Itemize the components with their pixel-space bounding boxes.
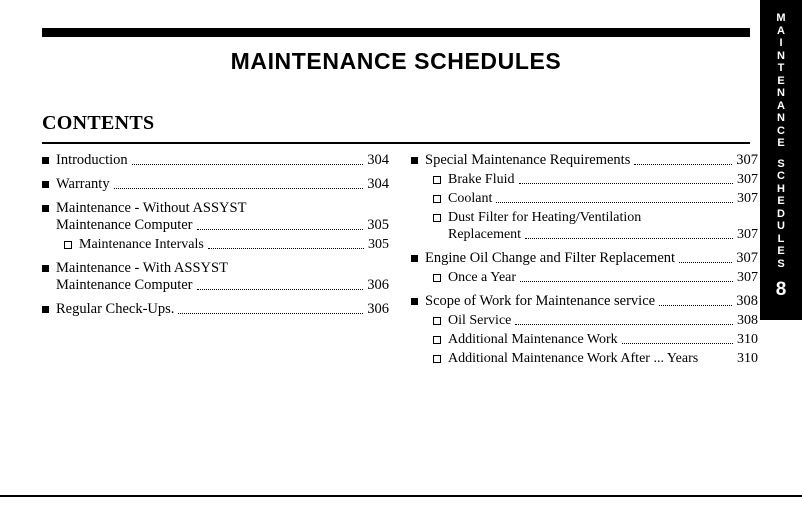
filled-square-bullet-icon [42,265,49,272]
contents-entry-page: 306 [367,301,389,318]
dot-leader [659,304,732,306]
side-tab-number: 8 [776,280,787,300]
contents-entry-label: Once a Year [448,269,516,286]
contents-entry-page: 305 [368,236,389,253]
side-tab-letter: S [777,158,784,171]
side-tab-letter: E [777,195,784,208]
dot-leader [702,362,733,363]
side-tab-letter: M [776,12,785,25]
contents-entry[interactable]: Brake Fluid307 [411,171,758,188]
contents-entry-page: 306 [367,277,389,294]
contents-entry-page: 307 [737,171,758,188]
contents-entry-body: Special Maintenance Requirements307 [425,152,758,169]
contents-entry-body: Brake Fluid307 [448,171,758,188]
dot-leader [520,280,733,282]
contents-entry[interactable]: Dust Filter for Heating/VentilationRepla… [411,209,758,243]
contents-right-column: Special Maintenance Requirements307Brake… [411,152,758,367]
contents-entry-label: Warranty [56,176,110,193]
contents-entry[interactable]: Special Maintenance Requirements307 [411,152,758,169]
side-tab-letter: E [777,245,784,258]
header-rule [42,28,750,37]
contents-entry-body: Additional Maintenance Work310 [448,331,758,348]
filled-square-bullet-icon [42,306,49,313]
contents-entry[interactable]: Introduction304 [42,152,389,169]
contents-left-column: Introduction304Warranty304Maintenance - … [42,152,389,367]
filled-square-bullet-icon [42,205,49,212]
contents-entry-label: Regular Check-Ups. [56,301,174,318]
side-tab-letter: L [778,233,785,246]
contents-entry-body: Scope of Work for Maintenance service308 [425,293,758,310]
contents-entry-label: Coolant [448,190,492,207]
contents-entry-label-line1: Maintenance - With ASSYST [56,260,389,277]
side-tab-letter: H [777,183,785,196]
contents-entry-label: Introduction [56,152,128,169]
contents-entry-page: 304 [367,152,389,169]
contents-entry-page: 310 [737,350,758,367]
contents-entry[interactable]: Maintenance - Without ASSYSTMaintenance … [42,200,389,234]
side-tab-letter: A [777,25,785,38]
hollow-square-bullet-icon [433,176,441,184]
hollow-square-bullet-icon [64,241,72,249]
side-tab-letter: N [777,112,785,125]
hollow-square-bullet-icon [433,336,441,344]
contents-entry[interactable]: Regular Check-Ups.306 [42,301,389,318]
contents-entry-label: Maintenance Computer [56,277,193,294]
side-tab-letter: C [777,125,785,138]
dot-leader [525,237,733,239]
side-tab-letter: I [779,37,782,50]
hollow-square-bullet-icon [433,195,441,203]
contents-heading: CONTENTS [42,112,154,135]
dot-leader [679,261,732,263]
contents-entry[interactable]: Additional Maintenance Work After ... Ye… [411,350,758,367]
contents-entry-page: 305 [367,217,389,234]
contents-entry-label: Oil Service [448,312,511,329]
dot-leader [178,312,363,314]
section-side-tab: MAINTENANCE SCHEDULES 8 [760,0,802,320]
contents-entry-page: 310 [737,331,758,348]
contents-entry-label: Replacement [448,226,521,243]
side-tab-letter: N [777,50,785,63]
side-tab-letter: C [777,170,785,183]
contents-entry-body: Coolant307 [448,190,758,207]
contents-entry-body: Regular Check-Ups.306 [56,301,389,318]
filled-square-bullet-icon [411,157,418,164]
contents-entry-page: 307 [737,190,758,207]
filled-square-bullet-icon [411,255,418,262]
contents-entry-label: Maintenance Intervals [79,236,204,253]
contents-entry-label: Maintenance Computer [56,217,193,234]
side-tab-word-schedules: SCHEDULES [777,158,785,271]
dot-leader [515,323,733,325]
hollow-square-bullet-icon [433,274,441,282]
side-tab-letter: U [777,220,785,233]
contents-entry-label: Brake Fluid [448,171,515,188]
hollow-square-bullet-icon [433,355,441,363]
filled-square-bullet-icon [42,181,49,188]
dot-leader [208,247,364,249]
contents-entry-page: 304 [367,176,389,193]
contents-entry-line2: Replacement307 [448,226,758,243]
contents-entry[interactable]: Additional Maintenance Work310 [411,331,758,348]
dot-leader [634,163,732,165]
dot-leader [132,163,364,165]
contents-entry-body: Oil Service308 [448,312,758,329]
side-tab-letter: D [777,208,785,221]
contents-rule [42,142,750,144]
contents-entry-body: Maintenance - Without ASSYSTMaintenance … [56,200,389,234]
filled-square-bullet-icon [411,298,418,305]
contents-entry-line2: Maintenance Computer305 [56,217,389,234]
contents-entry[interactable]: Scope of Work for Maintenance service308 [411,293,758,310]
footer-rule [0,495,802,497]
contents-entry-body: Warranty304 [56,176,389,193]
dot-leader [197,288,364,290]
contents-entry-body: Once a Year307 [448,269,758,286]
dot-leader [496,201,733,203]
contents-entry[interactable]: Coolant307 [411,190,758,207]
contents-entry[interactable]: Engine Oil Change and Filter Replacement… [411,250,758,267]
dot-leader [622,342,733,344]
dot-leader [114,187,364,189]
manual-page: MAINTENANCE SCHEDULES CONTENTS Introduct… [0,0,802,509]
contents-entry-label: Engine Oil Change and Filter Replacement [425,250,675,267]
contents-entry-body: Dust Filter for Heating/VentilationRepla… [448,209,758,243]
contents-columns: Introduction304Warranty304Maintenance - … [42,152,757,367]
contents-entry-body: Maintenance - With ASSYSTMaintenance Com… [56,260,389,294]
contents-entry-label-line1: Maintenance - Without ASSYST [56,200,389,217]
contents-entry-page: 307 [736,152,758,169]
contents-entry[interactable]: Maintenance - With ASSYSTMaintenance Com… [42,260,389,294]
side-tab-word-maintenance: MAINTENANCE [776,12,785,150]
filled-square-bullet-icon [42,157,49,164]
contents-entry-body: Additional Maintenance Work After ... Ye… [448,350,758,367]
side-tab-letter: A [777,100,785,113]
side-tab-letter: E [777,137,784,150]
page-title: MAINTENANCE SCHEDULES [42,48,750,75]
hollow-square-bullet-icon [433,214,441,222]
contents-entry[interactable]: Once a Year307 [411,269,758,286]
contents-entry-label: Scope of Work for Maintenance service [425,293,655,310]
side-tab-letter: N [777,87,785,100]
contents-entry-page: 308 [737,312,758,329]
contents-entry-label: Additional Maintenance Work [448,331,618,348]
contents-entry-label: Additional Maintenance Work After ... Ye… [448,350,698,367]
contents-entry-page: 307 [736,250,758,267]
contents-entry-page: 307 [737,226,758,243]
side-tab-letter: E [777,75,784,88]
side-tab-letter: S [777,258,784,271]
contents-entry-body: Introduction304 [56,152,389,169]
contents-entry-label-line1: Dust Filter for Heating/Ventilation [448,209,758,226]
contents-entry[interactable]: Oil Service308 [411,312,758,329]
side-tab-letter: T [778,62,785,75]
contents-entry-body: Maintenance Intervals305 [79,236,389,253]
contents-entry-page: 307 [737,269,758,286]
contents-entry-line2: Maintenance Computer306 [56,277,389,294]
dot-leader [197,228,364,230]
contents-entry-page: 308 [736,293,758,310]
contents-entry-label: Special Maintenance Requirements [425,152,630,169]
contents-entry[interactable]: Warranty304 [42,176,389,193]
dot-leader [519,182,734,184]
contents-entry[interactable]: Maintenance Intervals305 [42,236,389,253]
contents-entry-body: Engine Oil Change and Filter Replacement… [425,250,758,267]
hollow-square-bullet-icon [433,317,441,325]
